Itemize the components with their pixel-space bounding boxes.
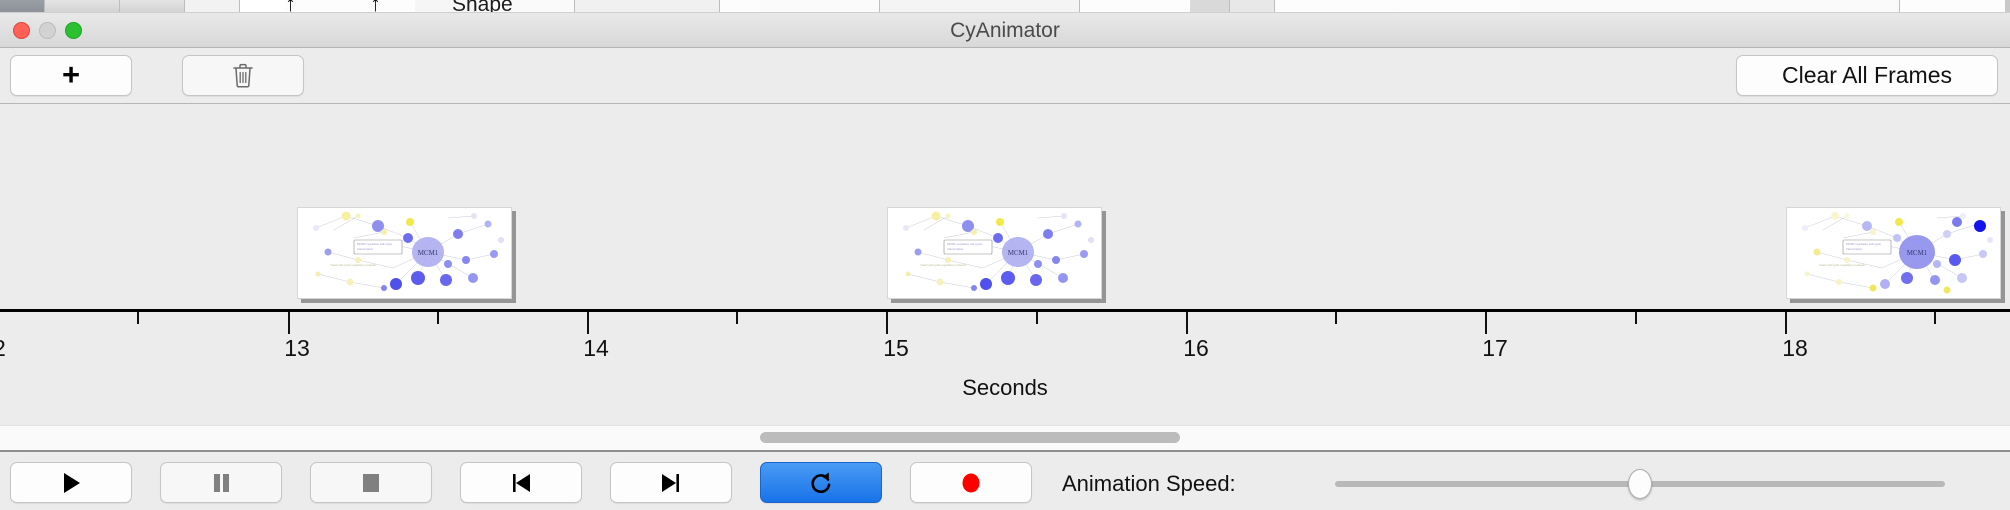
network-graph-preview: MCM1 regulates cell cycle transcription …: [298, 208, 511, 298]
add-frame-button[interactable]: +: [10, 55, 132, 96]
slider-thumb[interactable]: [1628, 469, 1652, 499]
cyanimator-window: CyAnimator + Clear All Frames: [0, 13, 2010, 510]
play-icon: [58, 470, 84, 496]
window-title: CyAnimator: [0, 19, 2010, 43]
pause-button[interactable]: [160, 462, 282, 503]
bg-tab-9: [760, 0, 880, 13]
background-window-strip: ↑ ↑ Shape: [0, 0, 2010, 13]
svg-text:MCM1 regulates cell cycle: MCM1 regulates cell cycle: [947, 242, 982, 246]
clear-all-frames-button[interactable]: Clear All Frames: [1736, 55, 1998, 96]
svg-text:Yeast cell cycle regulatory ne: Yeast cell cycle regulatory network: [330, 263, 376, 267]
skip-back-icon: [509, 471, 533, 495]
svg-text:MCM1 regulates cell cycle: MCM1 regulates cell cycle: [1846, 242, 1881, 246]
axis-tick-label: 16: [1183, 335, 1209, 362]
network-graph-preview: MCM1 regulates cell cycle transcription …: [888, 208, 1101, 298]
svg-text:MCM1 regulates cell cycle: MCM1 regulates cell cycle: [357, 242, 392, 246]
loop-button[interactable]: [760, 462, 882, 503]
timeline-frame-thumbnail[interactable]: MCM1 regulates cell cycle transcription …: [297, 207, 512, 299]
bg-arrow-icon-2: ↑: [370, 0, 381, 13]
bg-tab-10: [880, 0, 1080, 13]
axis-tick-minor: [1934, 312, 1936, 324]
svg-text:Yeast cell cycle regulatory ne: Yeast cell cycle regulatory network: [920, 263, 966, 267]
bg-tab-3: [120, 0, 185, 13]
play-button[interactable]: [10, 462, 132, 503]
animation-speed-slider[interactable]: [1335, 481, 1945, 487]
axis-tick-label: 15: [883, 335, 909, 362]
bg-tab-4: [185, 0, 240, 13]
axis-tick-minor: [437, 312, 439, 324]
skip-forward-icon: [659, 471, 683, 495]
svg-text:Yeast cell cycle regulatory ne: Yeast cell cycle regulatory network: [1819, 263, 1865, 267]
bg-tab-8: [575, 0, 720, 13]
svg-text:MCM1: MCM1: [1008, 249, 1029, 257]
scrollbar-thumb[interactable]: [760, 432, 1180, 443]
svg-text:transcription: transcription: [947, 247, 964, 251]
axis-tick-label: 2: [0, 335, 6, 362]
svg-text:MCM1: MCM1: [418, 249, 439, 257]
pause-icon: [209, 471, 233, 495]
animation-speed-label: Animation Speed:: [1062, 471, 1236, 497]
axis-tick-minor: [137, 312, 139, 324]
axis-tick-minor: [736, 312, 738, 324]
axis-tick-major: [288, 312, 290, 334]
svg-text:transcription: transcription: [357, 247, 374, 251]
loop-icon: [808, 470, 834, 496]
axis-tick-minor: [1036, 312, 1038, 324]
axis-tick-minor: [1335, 312, 1337, 324]
bg-tab-2: [45, 0, 120, 13]
bg-tab-12: [1230, 0, 1275, 13]
axis-tick-label: 13: [284, 335, 310, 362]
bg-tab-13: [1520, 0, 1900, 13]
axis-tick-major: [1785, 312, 1787, 334]
delete-frame-button[interactable]: [182, 55, 304, 96]
stop-button[interactable]: [310, 462, 432, 503]
bg-shape-label: Shape: [452, 0, 513, 13]
record-icon: [959, 471, 983, 495]
clear-all-frames-label: Clear All Frames: [1782, 62, 1952, 89]
plus-icon: +: [62, 59, 80, 90]
skip-to-start-button[interactable]: [460, 462, 582, 503]
trash-icon: [232, 63, 254, 88]
svg-text:MCM1: MCM1: [1907, 249, 1928, 257]
axis-tick-label: 18: [1782, 335, 1808, 362]
bg-scrollbar: [2005, 0, 2010, 13]
skip-to-end-button[interactable]: [610, 462, 732, 503]
stop-icon: [360, 472, 382, 494]
timeline-frame-thumbnail[interactable]: MCM1 regulates cell cycle transcription …: [887, 207, 1102, 299]
axis-tick-label: 14: [583, 335, 609, 362]
timeline-horizontal-scrollbar[interactable]: [0, 425, 2010, 450]
axis-title: Seconds: [0, 375, 2010, 401]
axis-tick-major: [587, 312, 589, 334]
axis-tick-label: 17: [1482, 335, 1508, 362]
frames-toolbar: + Clear All Frames: [0, 48, 2010, 104]
timeline-axis[interactable]: 2 13 14 15 16 17 18 Seconds: [0, 309, 2010, 419]
network-graph-preview: MCM1 regulates cell cycle transcription …: [1787, 208, 2000, 298]
axis-tick-major: [886, 312, 888, 334]
timeline-frame-thumbnail[interactable]: MCM1 regulates cell cycle transcription …: [1786, 207, 2001, 299]
axis-tick-major: [1186, 312, 1188, 334]
bg-tab-5: [240, 0, 285, 13]
window-titlebar[interactable]: CyAnimator: [0, 13, 2010, 48]
timeline-panel[interactable]: MCM1 regulates cell cycle transcription …: [0, 104, 2010, 450]
bg-tab-11: [1190, 0, 1230, 13]
playback-controlbar: Animation Speed:: [0, 450, 2010, 510]
svg-text:transcription: transcription: [1846, 247, 1863, 251]
record-button[interactable]: [910, 462, 1032, 503]
bg-tab-1: [0, 0, 45, 13]
frame-strip: MCM1 regulates cell cycle transcription …: [0, 104, 2010, 309]
axis-tick-major: [1485, 312, 1487, 334]
axis-line: [0, 309, 2010, 312]
axis-tick-minor: [1635, 312, 1637, 324]
bg-arrow-icon-1: ↑: [285, 0, 296, 13]
